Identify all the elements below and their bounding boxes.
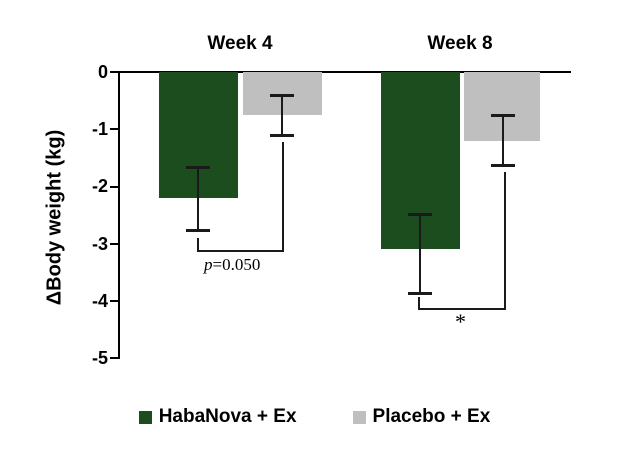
error-bar-week4-placebo-cap-bottom <box>270 134 294 137</box>
y-tick-label-0: 0 <box>74 62 108 83</box>
sig-bracket-week4-right <box>282 142 284 252</box>
error-bar-week8-placebo-stem <box>502 115 504 166</box>
sig-label-week8-asterisk: * <box>455 311 466 333</box>
error-bar-week8-placebo-cap-bottom <box>491 164 515 167</box>
y-tick-mark-minus2 <box>110 186 120 188</box>
legend-item-placebo: Placebo + Ex <box>353 406 491 428</box>
error-bar-week4-habanova-cap-top <box>186 166 210 169</box>
error-bar-week4-placebo-stem <box>281 95 283 136</box>
error-bar-week8-habanova-cap-top <box>408 213 432 216</box>
group-title-week8: Week 8 <box>410 33 510 55</box>
error-bar-week8-placebo-cap-top <box>491 114 515 117</box>
y-tick-label-minus5: -5 <box>70 348 108 369</box>
y-tick-mark-minus4 <box>110 300 120 302</box>
legend-swatch-placebo <box>353 411 366 424</box>
legend-label-placebo: Placebo + Ex <box>373 406 491 428</box>
y-tick-mark-minus3 <box>110 243 120 245</box>
y-axis-spine <box>118 72 120 359</box>
legend-item-habanova: HabaNova + Ex <box>139 406 297 428</box>
chart-legend: HabaNova + Ex Placebo + Ex <box>0 406 629 428</box>
group-title-week4: Week 4 <box>190 33 290 55</box>
error-bar-week4-placebo-cap-top <box>270 94 294 97</box>
legend-label-habanova: HabaNova + Ex <box>159 406 297 428</box>
error-bar-week4-habanova-cap-bottom <box>186 229 210 232</box>
sig-bracket-week8-right <box>504 172 506 310</box>
y-tick-label-minus4: -4 <box>70 291 108 312</box>
y-tick-label-minus2: -2 <box>70 176 108 197</box>
y-tick-label-minus1: -1 <box>70 119 108 140</box>
error-bar-week4-habanova-stem <box>197 167 199 231</box>
error-bar-week8-habanova-cap-bottom <box>408 292 432 295</box>
sig-label-week4-p: p <box>204 255 213 274</box>
legend-swatch-habanova <box>139 411 152 424</box>
y-tick-mark-minus1 <box>110 128 120 130</box>
y-axis-title: ΔBody weight (kg) <box>44 108 67 328</box>
sig-label-week4: p=0.050 <box>204 255 260 275</box>
y-tick-label-minus3: -3 <box>70 234 108 255</box>
sig-label-week4-value: =0.050 <box>213 255 261 274</box>
error-bar-week8-habanova-stem <box>419 214 421 294</box>
chart-figure: Week 4 Week 8 ΔBody weight (kg) 0 -1 -2 … <box>0 0 629 475</box>
sig-bracket-week4-top <box>197 250 284 252</box>
y-tick-mark-0 <box>110 71 120 73</box>
y-tick-mark-minus5 <box>110 357 120 359</box>
